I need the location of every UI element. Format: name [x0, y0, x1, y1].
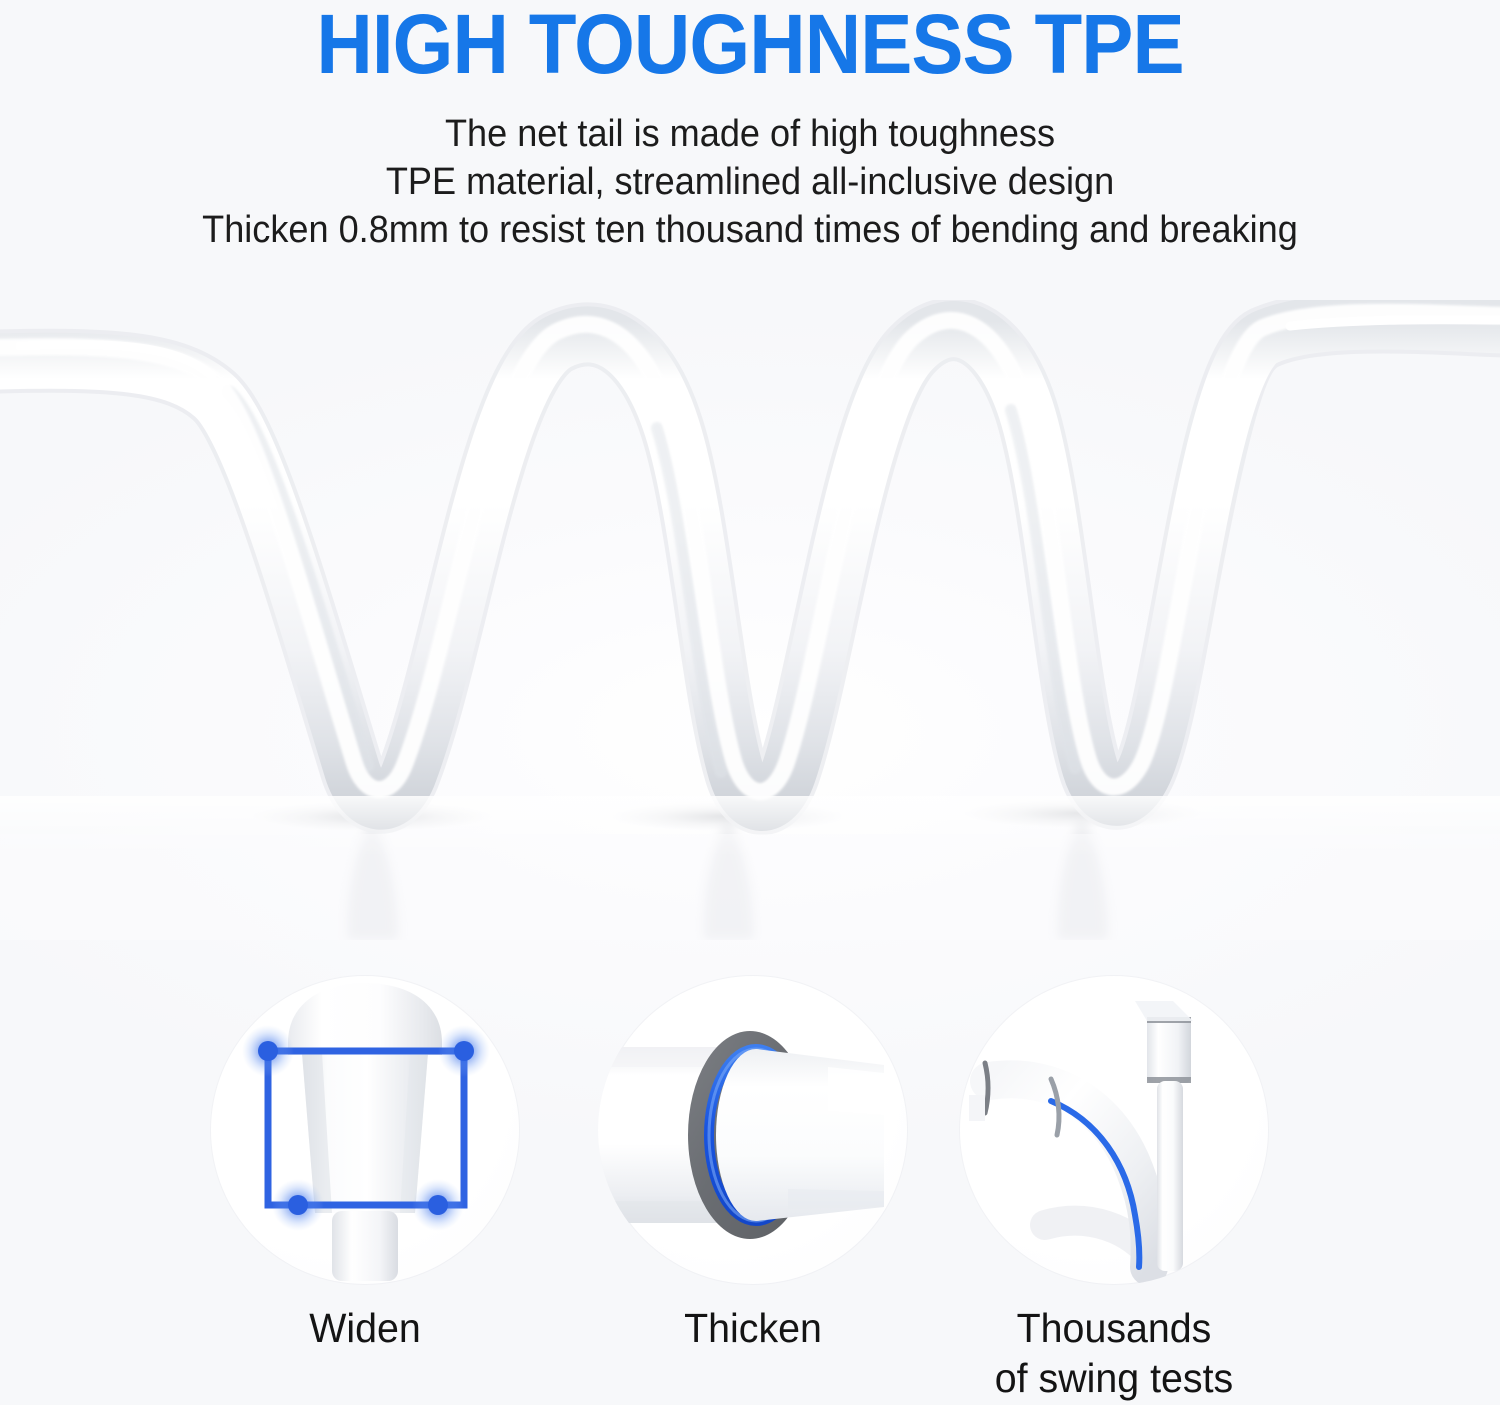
widen-icon-circle [210, 975, 520, 1285]
feature-caption-swing-tests: Thousands of swing tests [951, 1303, 1277, 1403]
feature-caption-widen: Widen [202, 1303, 528, 1353]
cable-bend-swing-test-icon [959, 975, 1269, 1285]
page-title: HIGH TOUGHNESS TPE [53, 2, 1448, 86]
description-line-3: Thicken 0.8mm to resist ten thousand tim… [38, 206, 1463, 254]
cable-cross-section-thickness-icon [598, 975, 908, 1285]
hero-cable-image [0, 300, 1500, 940]
description-block: The net tail is made of high toughness T… [0, 110, 1500, 254]
feature-thicken[interactable]: Thicken [583, 975, 923, 1353]
upright-cable [1157, 1081, 1183, 1271]
feature-caption-thicken: Thicken [590, 1303, 916, 1353]
swing-test-icon-circle [959, 975, 1269, 1285]
cable-boot-width-measure-icon [210, 975, 520, 1285]
thicken-icon-circle [598, 975, 908, 1285]
description-line-2: TPE material, streamlined all-inclusive … [38, 158, 1463, 206]
feature-row: Widen [0, 975, 1500, 1405]
feature-widen[interactable]: Widen [195, 975, 535, 1353]
feature-swing-tests[interactable]: Thousands of swing tests [944, 975, 1284, 1403]
product-feature-panel: HIGH TOUGHNESS TPE The net tail is made … [0, 0, 1500, 1405]
description-line-1: The net tail is made of high toughness [38, 110, 1463, 158]
upright-connector [1147, 1017, 1191, 1083]
